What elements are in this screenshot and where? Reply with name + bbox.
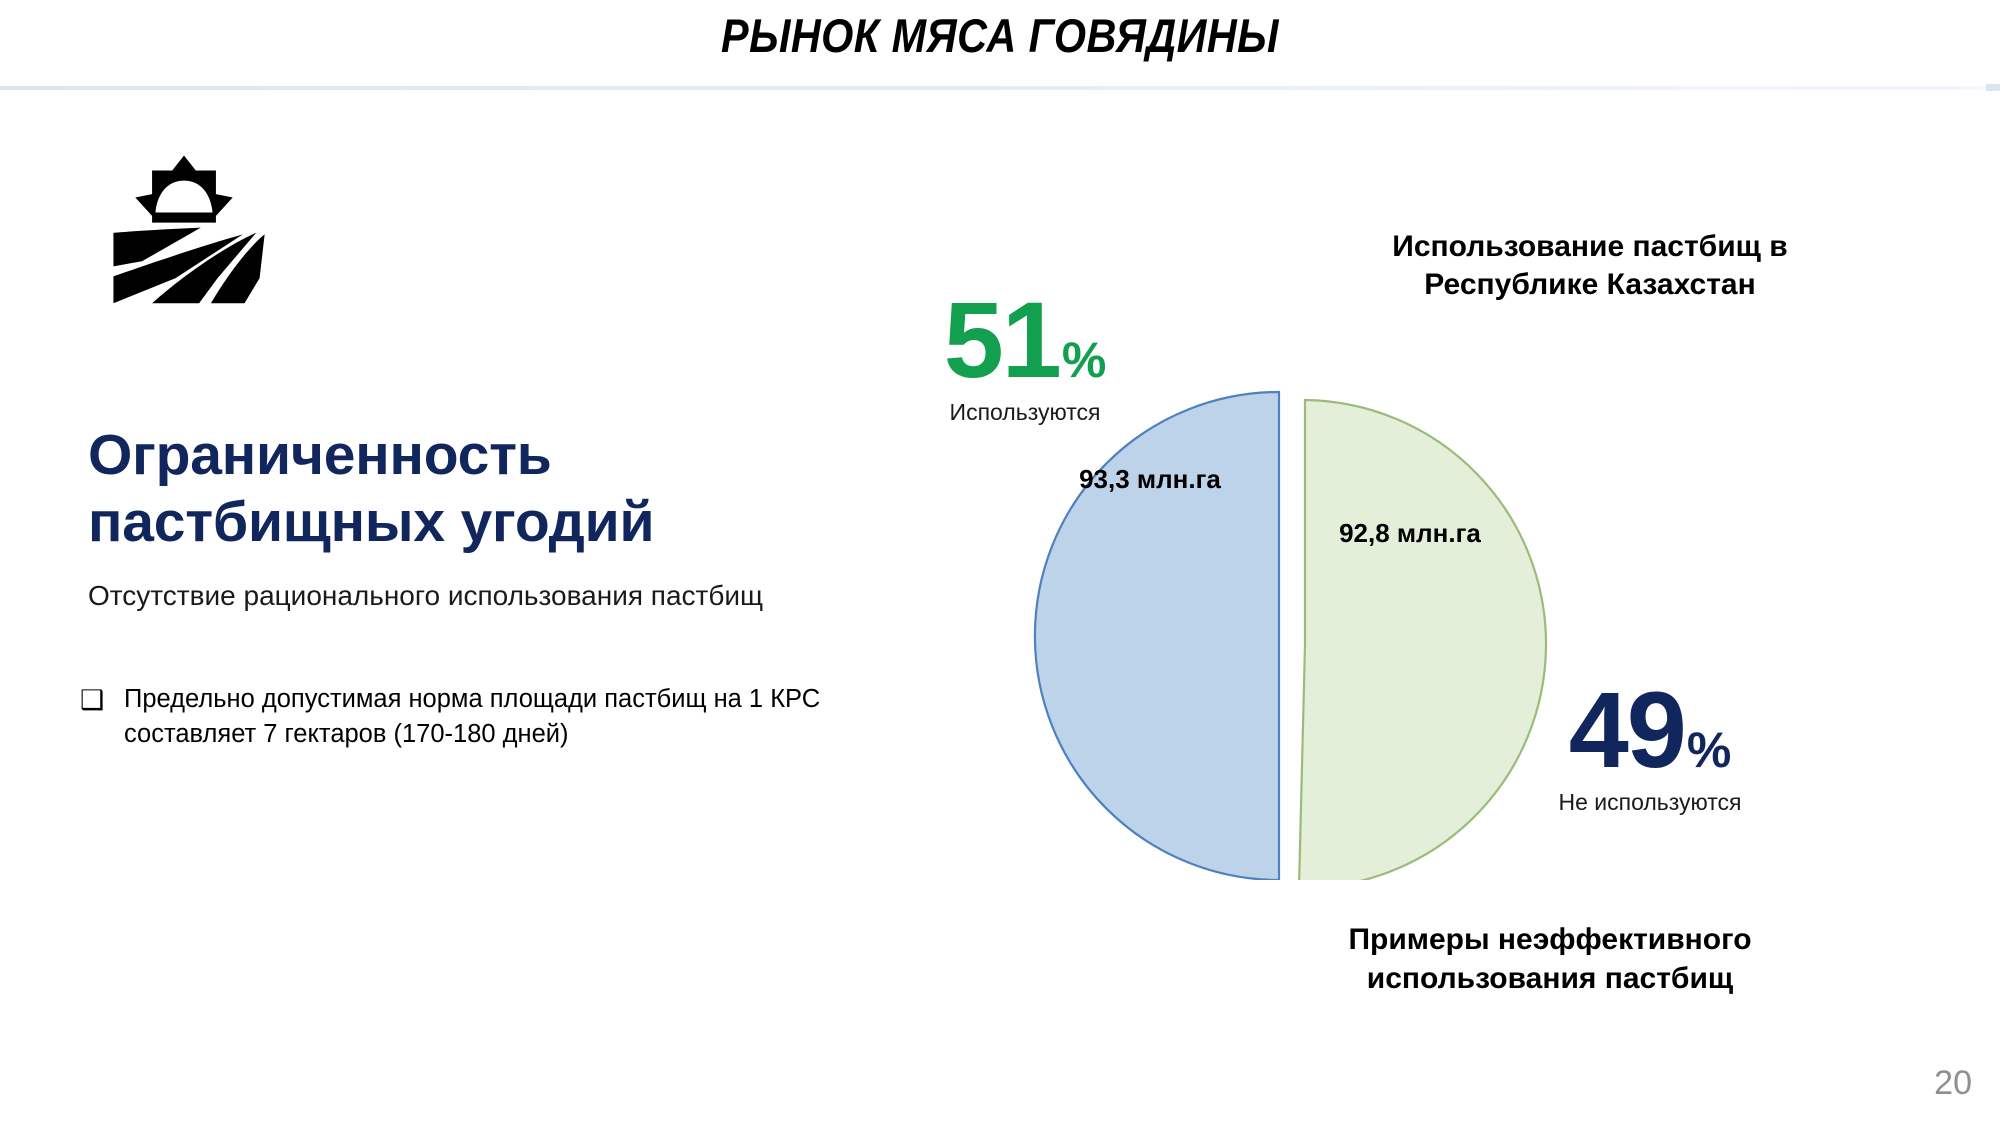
pie-slice-unused[interactable] bbox=[1299, 400, 1546, 880]
title-divider-end-cap bbox=[1986, 84, 2000, 91]
stat-used-value-row: 51 % bbox=[905, 290, 1145, 389]
chart-footer-line1: Примеры неэффективного bbox=[1348, 923, 1751, 956]
slide-canvas: РЫНОК МЯСА ГОВЯДИНЫ Ограниченность пастб… bbox=[0, 0, 2000, 1125]
stat-unused: 49 % Не используются bbox=[1520, 680, 1780, 816]
bullet-text-line1: Предельно допустимая норма площади пастб… bbox=[124, 685, 820, 713]
page-number: 20 bbox=[1934, 1064, 1972, 1103]
stat-used-caption: Используются bbox=[905, 399, 1145, 426]
stat-unused-value-row: 49 % bbox=[1520, 680, 1780, 779]
title-divider bbox=[0, 86, 2000, 90]
checkbox-bullet-icon: ❑ bbox=[80, 682, 124, 719]
pie-data-label-unused: 92,8 млн.га bbox=[1339, 518, 1481, 548]
lead-heading: Ограниченность пастбищных угодий bbox=[88, 422, 848, 557]
agriculture-field-sun-icon bbox=[100, 142, 268, 310]
stat-used-percent-sign: % bbox=[1062, 335, 1106, 385]
chart-title-line1: Использование пастбищ в bbox=[1392, 230, 1788, 263]
page-title: РЫНОК МЯСА ГОВЯДИНЫ bbox=[120, 8, 1880, 63]
bullet-text: Предельно допустимая норма площади пастб… bbox=[124, 682, 1000, 752]
pie-chart: 93,3 млн.га 92,8 млн.га bbox=[1010, 360, 1570, 880]
stat-unused-number: 49 bbox=[1569, 680, 1685, 779]
chart-title: Использование пастбищ в Республике Казах… bbox=[1280, 228, 1900, 303]
stat-used: 51 % Используются bbox=[905, 290, 1145, 426]
pie-data-label-used: 93,3 млн.га bbox=[1079, 464, 1221, 494]
stat-used-number: 51 bbox=[944, 290, 1060, 389]
stat-unused-caption: Не используются bbox=[1520, 789, 1780, 816]
chart-footer-caption: Примеры неэффективного использования пас… bbox=[1230, 920, 1870, 998]
bullet-item: ❑ Предельно допустимая норма площади пас… bbox=[80, 682, 1000, 752]
stat-unused-percent-sign: % bbox=[1687, 725, 1731, 775]
lead-subheading: Отсутствие рационального использования п… bbox=[88, 578, 988, 613]
chart-title-line2: Республике Казахстан bbox=[1424, 268, 1755, 301]
chart-footer-line2: использования пастбищ bbox=[1367, 962, 1733, 995]
bullet-text-line2: составляет 7 гектаров (170-180 дней) bbox=[124, 717, 1000, 752]
